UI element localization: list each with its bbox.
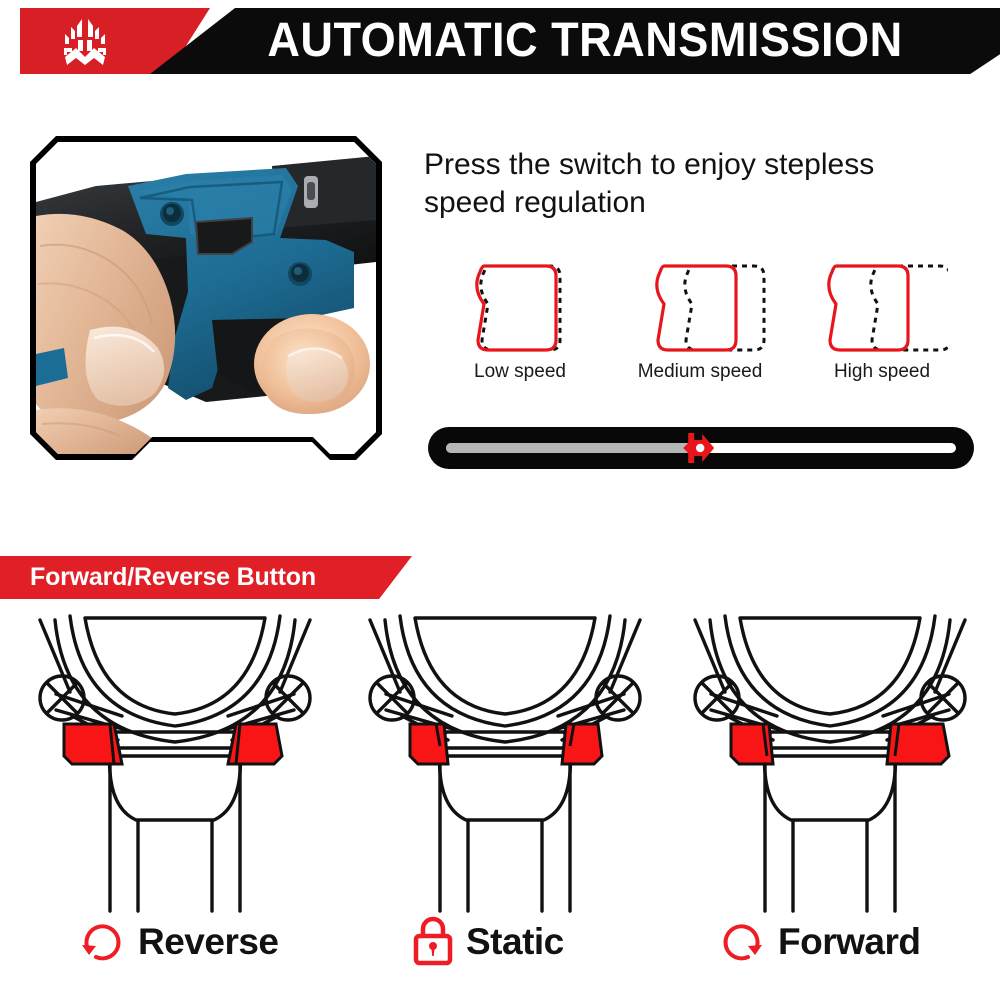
trigger-outline-icon: [454, 258, 586, 358]
direction-label-forward: Forward: [718, 906, 920, 976]
section-banner-label: Forward/Reverse Button: [30, 556, 316, 599]
tool-top-view-static: [340, 606, 670, 926]
arrow-thumb-icon[interactable]: [680, 427, 720, 469]
trigger-outline-icon: [816, 258, 948, 358]
header-title: AUTOMATIC TRANSMISSION: [223, 8, 947, 74]
infographic-page: AUTOMATIC TRANSMISSION: [0, 0, 1000, 1000]
tool-top-view-forward: [665, 606, 995, 926]
slider-fill: [446, 443, 701, 453]
direction-label-text: Static: [466, 923, 564, 960]
tool-top-view-reverse: [10, 606, 340, 926]
direction-diagram-forward: [665, 606, 995, 936]
speed-mode-label: High speed: [792, 362, 972, 383]
direction-diagram-reverse: [10, 606, 340, 936]
direction-diagrams-row: [0, 606, 1000, 936]
direction-diagram-static: [340, 606, 670, 936]
rotate-clockwise-icon: [718, 917, 766, 965]
product-photo: [36, 142, 376, 454]
direction-label-text: Forward: [778, 923, 920, 960]
direction-label-static: Static: [412, 906, 564, 976]
brand-emblem-icon: [52, 17, 118, 67]
speed-mode-medium: Medium speed: [610, 258, 790, 410]
product-photo-frame: [30, 136, 382, 460]
intro-headline: Press the switch to enjoy stepless speed…: [424, 146, 964, 223]
trigger-outline-icon: [634, 258, 766, 358]
direction-label-text: Reverse: [138, 923, 279, 960]
speed-mode-label: Medium speed: [610, 362, 790, 383]
speed-mode-low: Low speed: [430, 258, 610, 410]
direction-labels-row: Reverse Static Forward: [0, 906, 1000, 986]
header-banner: AUTOMATIC TRANSMISSION: [0, 8, 1000, 74]
speed-mode-label: Low speed: [430, 362, 610, 383]
rotate-counterclockwise-icon: [78, 917, 126, 965]
hand-on-trigger-illustration: [36, 142, 376, 454]
speed-regulation-slider[interactable]: [428, 427, 974, 469]
speed-modes-row: Low speed Medium speed High speed: [424, 258, 976, 410]
padlock-icon: [412, 915, 454, 967]
speed-mode-high: High speed: [792, 258, 972, 410]
direction-label-reverse: Reverse: [78, 906, 279, 976]
